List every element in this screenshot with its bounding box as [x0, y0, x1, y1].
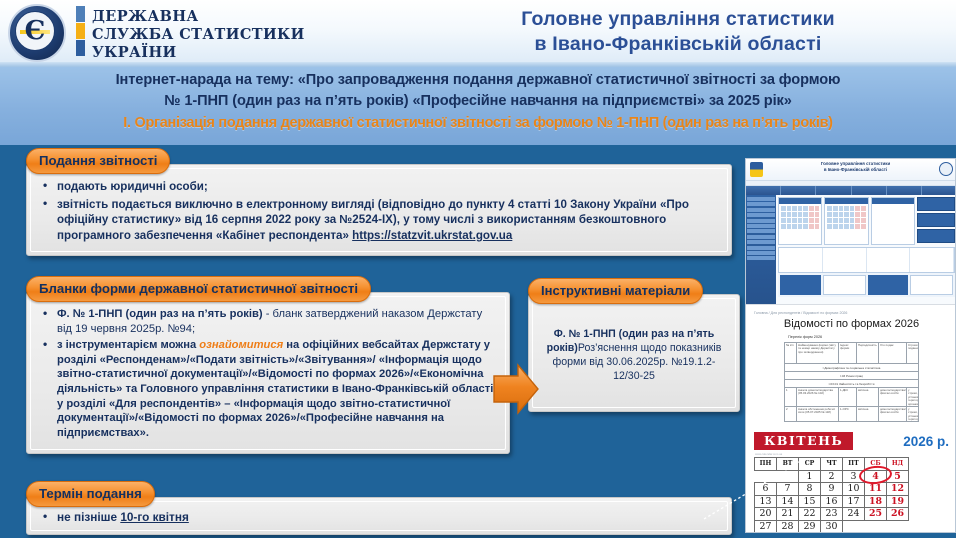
calendar-day: 5: [887, 470, 909, 483]
sidebar-link[interactable]: [747, 213, 775, 217]
card4-bullet-list: не пізніше 10-го квітня: [39, 510, 719, 526]
quicklink[interactable]: [779, 248, 823, 272]
card-submission-deadline: Термін подання не пізніше 10-го квітня: [26, 481, 732, 535]
brand-line-2: СЛУЖБА СТАТИСТИКИ: [92, 26, 305, 44]
grid-cell: [850, 224, 855, 229]
sidebar-link[interactable]: [747, 224, 775, 228]
table-section-band: I.03.01 Зайнятість та безробіття: [785, 380, 918, 388]
calendar-weekday: НД: [887, 458, 909, 471]
website-panel-calendar-a: [778, 197, 822, 245]
calendar-day: 30: [821, 520, 843, 533]
grid-cell: [781, 224, 786, 229]
calendar-day: 23: [821, 508, 843, 521]
grid-cell: [815, 206, 820, 211]
brand-accent-bars: [76, 6, 85, 60]
card3-text-rest: Роз’яснення щодо показників форми від 30…: [553, 342, 722, 382]
grid-cell: [839, 212, 844, 217]
website-title-line-2: в Івано-Франківській області: [780, 167, 931, 173]
grid-cell: [855, 212, 860, 217]
grid-cell: [833, 218, 838, 223]
grid-cell: [833, 212, 838, 217]
banner-line-1: Інтернет-нарада на тему: «Про запровадже…: [0, 70, 956, 91]
grid-cell: [850, 212, 855, 217]
organisation-title-line-2: в Івано-Франківській області: [408, 32, 948, 57]
calendar-day: 11: [865, 483, 887, 496]
grid-cell: [815, 218, 820, 223]
calendar-month-label: КВІТЕНЬ: [754, 432, 853, 450]
card2-bullet-2-pre: з інструментарієм можна: [57, 339, 199, 351]
organisation-title: Головне управління статистики в Івано-Фр…: [408, 7, 948, 57]
calendar-day: 2: [821, 470, 843, 483]
grid-cell: [798, 206, 803, 211]
promo-block[interactable]: [917, 229, 955, 243]
website-thumbnail: Головне управління статистики в Івано-Фр…: [746, 159, 956, 304]
organisation-title-line-1: Головне управління статистики: [408, 7, 948, 32]
card2-body: Ф. № 1-ПНП (один раз на п’ять років) - б…: [26, 292, 510, 454]
deadline-date: 10-го квітня: [120, 510, 189, 524]
card3-text: Ф. № 1-ПНП (один раз на п’ять років)Роз’…: [541, 327, 727, 383]
card-report-forms: Бланки форми державної статистичної звіт…: [26, 276, 510, 454]
calendar-day: 12: [887, 483, 909, 496]
grid-cell: [855, 218, 860, 223]
sidebar-link[interactable]: [747, 219, 775, 223]
card2-bullet-2-post: на офіційних вебсайтах Держстату у розді…: [57, 339, 493, 439]
table-cell: у строки, установлені територіальним орг…: [907, 407, 918, 421]
grid-cell: [792, 224, 797, 229]
table-cell: 1-ДКС: [839, 388, 857, 406]
grid-cell: [787, 206, 792, 211]
sidebar-link[interactable]: [747, 235, 775, 239]
document-thumbnail: Головна / Для респондентів / Відомості п…: [746, 304, 956, 429]
sidebar-link[interactable]: [747, 229, 775, 233]
deadline-calendar-connector: [700, 455, 820, 535]
page-header: Є ДЕРЖАВНА СЛУЖБА СТАТИСТИКИ УКРАЇНИ Гол…: [0, 0, 956, 66]
card4-title: Термін подання: [26, 481, 155, 507]
grid-cell: [827, 218, 832, 223]
grid-cell: [809, 212, 814, 217]
panel-date-grid: [825, 204, 867, 231]
document-breadcrumb: Головна / Для респондентів / Відомості п…: [754, 311, 949, 315]
grid-cell: [809, 206, 814, 211]
card1-bullet-list: подають юридичні особи; звітність подаєт…: [39, 179, 719, 243]
quicklink[interactable]: [910, 248, 954, 272]
card1-body: подають юридичні особи; звітність подаєт…: [26, 164, 732, 256]
grid-cell: [839, 224, 844, 229]
grid-cell: [844, 224, 849, 229]
calendar-day-empty: [887, 520, 909, 533]
banner-line-3-section: I. Організація подання державної статист…: [0, 112, 956, 134]
website-panel-row: [778, 197, 955, 245]
website-nav-item[interactable]: [887, 186, 922, 195]
quicklink[interactable]: [823, 248, 867, 272]
statzvit-link[interactable]: https://statzvit.ukrstat.gov.ua: [352, 229, 512, 242]
grid-cell: [809, 218, 814, 223]
sidebar-link[interactable]: [747, 202, 775, 206]
bottom-block: [823, 275, 866, 295]
card2-bullet-1: Ф. № 1-ПНП (один раз на п’ять років) - б…: [39, 307, 497, 336]
card1-title: Подання звітності: [26, 148, 170, 174]
grid-cell: [827, 206, 832, 211]
calendar-day-highlighted: 10: [843, 483, 865, 496]
grid-cell: [798, 218, 803, 223]
grid-cell: [815, 212, 820, 217]
ukraine-flag-icon: [750, 162, 763, 177]
grid-cell: [850, 218, 855, 223]
website-bottom-blocks: [778, 273, 955, 297]
grid-cell: [861, 218, 866, 223]
calendar-day: 3: [843, 470, 865, 483]
grid-cell: [787, 212, 792, 217]
grid-cell: [839, 218, 844, 223]
website-nav-bar[interactable]: [746, 186, 956, 195]
calendar-header: КВІТЕНЬ 2026 р.: [754, 432, 949, 450]
card1-bullet-2: звітність подається виключно в електронн…: [39, 197, 719, 244]
grid-cell: [844, 206, 849, 211]
table-cell: у строки, установлені територіальним орг…: [907, 388, 918, 406]
calendar-day: 25: [865, 508, 887, 521]
calendar-day: 24: [843, 508, 865, 521]
grid-cell: [833, 224, 838, 229]
grid-cell: [792, 206, 797, 211]
calendar-day-empty: [843, 520, 865, 533]
card4-bullet-pre: не пізніше: [57, 510, 120, 524]
brand-bar-blue-light: [76, 6, 85, 22]
calendar-day: 17: [843, 495, 865, 508]
document-title: Відомості по формах 2026: [754, 318, 949, 330]
table-header-row: № з/п Найменування форми (звіту та номер…: [785, 343, 918, 364]
table-header-cell: № з/п: [785, 343, 797, 363]
grid-cell: [809, 224, 814, 229]
brand-bar-blue-dark: [76, 40, 85, 56]
grid-cell: [781, 212, 786, 217]
grid-cell: [803, 224, 808, 229]
grid-cell: [827, 224, 832, 229]
website-nav-item[interactable]: [852, 186, 887, 195]
calendar-day: 18: [865, 495, 887, 508]
table-header-cell: Найменування форми (звіту та номер наказ…: [797, 343, 839, 363]
banner-line-2: № 1-ПНП (один раз на п’ять років) «Профе…: [0, 91, 956, 112]
table-header-cell: Строки подання: [907, 343, 918, 363]
slide-title-banner: Інтернет-нарада на тему: «Про запровадже…: [0, 67, 956, 145]
grid-cell: [861, 224, 866, 229]
card-instructional-materials: Інструктивні матеріали Ф. № 1-ПНП (один …: [528, 278, 740, 412]
table-cell: місячна: [857, 407, 879, 421]
calendar-year-label: 2026 р.: [903, 434, 949, 449]
brand-line-1: ДЕРЖАВНА: [92, 8, 305, 26]
website-title: Головне управління статистики в Івано-Фр…: [780, 161, 931, 174]
table-cell: 1-ОРС: [839, 407, 857, 421]
calendar-weekday: ЧТ: [821, 458, 843, 471]
grid-cell: [833, 206, 838, 211]
sidebar-link[interactable]: [747, 246, 775, 250]
grid-cell: [839, 206, 844, 211]
website-content: [776, 195, 956, 304]
sidebar-link[interactable]: [747, 240, 775, 244]
website-seal-icon: [939, 162, 953, 176]
website-nav-item[interactable]: [816, 186, 851, 195]
website-nav-item[interactable]: [922, 186, 956, 195]
website-quicklinks-strip[interactable]: [778, 247, 955, 273]
website-panel-calendar-b: [824, 197, 868, 245]
right-arrow-icon: [488, 360, 542, 418]
panel-date-grid: [779, 204, 821, 231]
website-nav-item[interactable]: [746, 186, 781, 195]
table-header-cell: Періодичність: [857, 343, 879, 363]
card4-bullet-1: не пізніше 10-го квітня: [39, 510, 719, 526]
calendar-day-empty: [865, 520, 887, 533]
grid-cell: [781, 218, 786, 223]
website-panel-infographic: [871, 197, 915, 245]
table-cell: домогосподарства/ фізичні особи: [879, 388, 907, 406]
table-cell: 1: [785, 388, 797, 406]
grid-cell: [850, 206, 855, 211]
quicklink[interactable]: [867, 248, 911, 272]
card3-title: Інструктивні матеріали: [528, 278, 703, 304]
table-section-band: I Демографічна та соціальна статистика: [785, 364, 918, 372]
grid-cell: [798, 212, 803, 217]
table-header-cell: Індекс форми: [839, 343, 857, 363]
promo-block[interactable]: [917, 197, 955, 211]
grid-cell: [787, 224, 792, 229]
sidebar-link[interactable]: [747, 197, 775, 201]
calendar-day: 16: [821, 495, 843, 508]
grid-cell: [861, 206, 866, 211]
sidebar-link[interactable]: [747, 256, 775, 260]
card2-title: Бланки форми державної статистичної звіт…: [26, 276, 371, 302]
grid-cell: [803, 212, 808, 217]
card2-form-code: Ф. № 1-ПНП (один раз на п’ять років): [57, 308, 263, 320]
card-submission-of-reports: Подання звітності подають юридичні особи…: [26, 148, 732, 256]
grid-cell: [844, 218, 849, 223]
grid-cell: [792, 218, 797, 223]
brand-line-3: УКРАЇНИ: [92, 44, 305, 62]
table-cell: 2: [785, 407, 797, 421]
calendar-day: 4: [865, 470, 887, 483]
website-sidebar[interactable]: [746, 195, 776, 304]
grid-cell: [781, 206, 786, 211]
document-subtitle: Перелік форм 2026: [788, 335, 949, 339]
grid-cell: [798, 224, 803, 229]
table-header-cell: Хто подає: [879, 343, 907, 363]
sidebar-link[interactable]: [747, 208, 775, 212]
brand-name: ДЕРЖАВНА СЛУЖБА СТАТИСТИКИ УКРАЇНИ: [92, 8, 305, 62]
calendar-weekday: ПТ: [843, 458, 865, 471]
sidebar-link[interactable]: [747, 251, 775, 255]
calendar-weekday: СБ: [865, 458, 887, 471]
document-table: № з/п Найменування форми (звіту та номер…: [784, 342, 919, 422]
card2-bullet-list: Ф. № 1-ПНП (один раз на п’ять років) - б…: [39, 307, 497, 440]
table-row: 1 Анкета домогосподарства (05.03.2026 № …: [785, 388, 918, 407]
table-cell: місячна: [857, 388, 879, 406]
logo-sigma-glyph: Є: [6, 2, 64, 60]
grid-cell: [827, 212, 832, 217]
bottom-block: [868, 275, 909, 295]
bottom-block: [910, 275, 953, 295]
grid-cell: [815, 224, 820, 229]
website-header: Головне управління статистики в Івано-Фр…: [746, 159, 956, 181]
card1-bullet-1: подають юридичні особи;: [39, 179, 719, 195]
table-cell: Анкета обстеження робочої сили (05.07.20…: [797, 407, 839, 421]
panel-header: [872, 198, 914, 204]
card3-body: Ф. № 1-ПНП (один раз на п’ять років)Роз’…: [528, 294, 740, 412]
grid-cell: [861, 212, 866, 217]
grid-cell: [855, 224, 860, 229]
grid-cell: [855, 206, 860, 211]
table-row: 2 Анкета обстеження робочої сили (05.07.…: [785, 407, 918, 421]
website-right-column: [917, 197, 955, 245]
derzhstat-logo: Є: [6, 2, 68, 64]
grid-cell: [803, 218, 808, 223]
promo-block[interactable]: [917, 213, 955, 227]
calendar-day: 26: [887, 508, 909, 521]
bottom-block: [780, 275, 821, 295]
table-cell: Анкета домогосподарства (05.03.2026 № 10…: [797, 388, 839, 406]
grid-cell: [844, 212, 849, 217]
calendar-day: 19: [887, 495, 909, 508]
card2-bullet-2: з інструментарієм можна ознайомитися на …: [39, 338, 497, 440]
grid-cell: [787, 218, 792, 223]
table-section-band: I.03 Ринок праці: [785, 372, 918, 380]
grid-cell: [792, 212, 797, 217]
calendar-day: 9: [821, 483, 843, 496]
familiarize-link[interactable]: ознайомитися: [199, 339, 283, 351]
website-nav-item[interactable]: [781, 186, 816, 195]
table-cell: домогосподарства/ фізичні особи: [879, 407, 907, 421]
brand-bar-gold: [76, 23, 85, 39]
website-body: [746, 195, 956, 304]
grid-cell: [803, 206, 808, 211]
